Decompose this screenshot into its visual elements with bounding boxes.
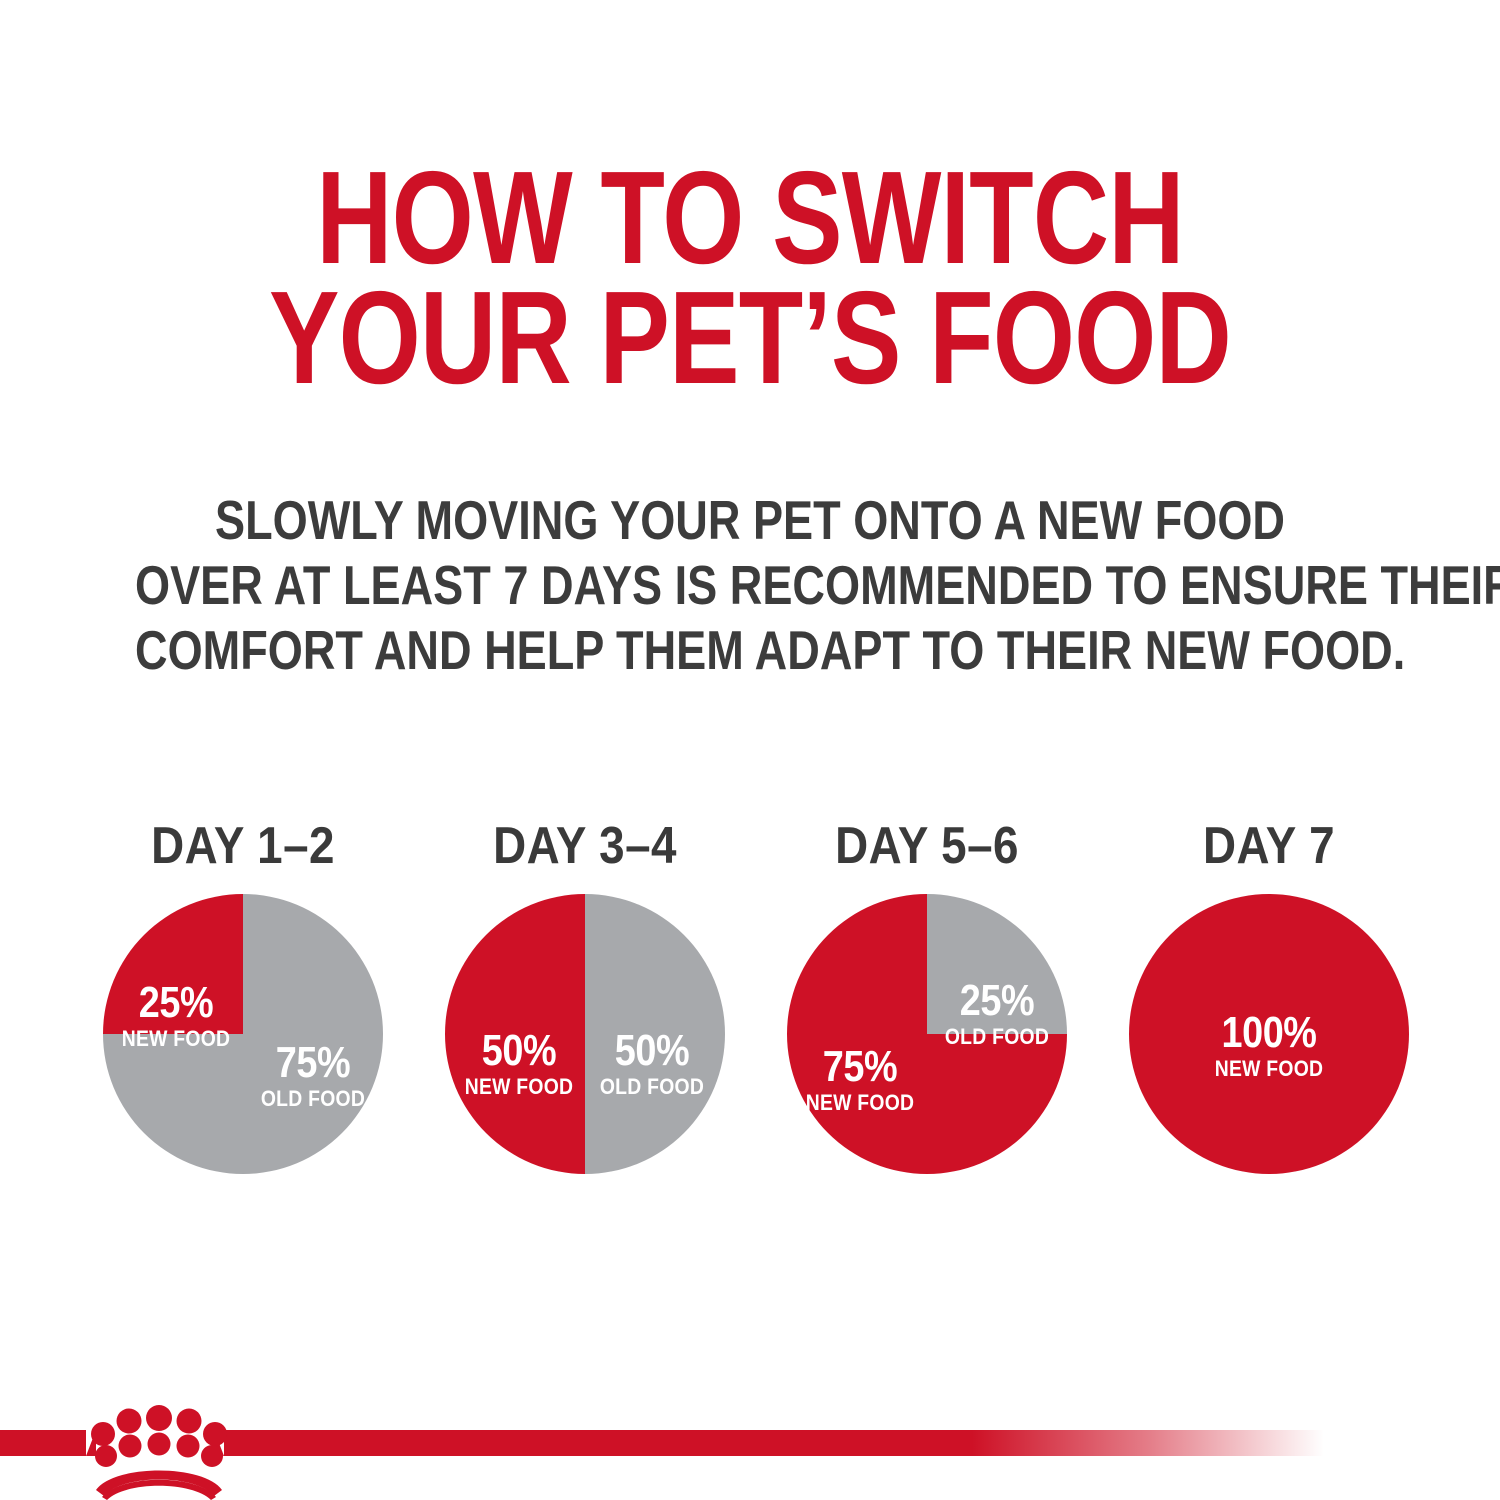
pie-cell-day-7: DAY 7 100% NEW FOOD <box>1098 818 1440 1174</box>
pie-cell-day-3-4: DAY 3–4 50% NEW FOOD 50% OLD FOOD <box>414 818 756 1174</box>
pie-svg-day-1-2 <box>103 894 383 1174</box>
footer-bar-right <box>224 1430 1324 1456</box>
day-label-1: DAY 1–2 <box>93 818 394 876</box>
pie-chart-day-3-4: 50% NEW FOOD 50% OLD FOOD <box>445 894 725 1174</box>
pie-cell-day-1-2: DAY 1–2 25% NEW FOOD 75% OLD FOOD <box>72 818 414 1174</box>
pie-svg-day-3-4 <box>445 894 725 1174</box>
subtitle-line-3: COMFORT AND HELP THEM ADAPT TO THEIR NEW… <box>135 618 1365 683</box>
title-line-2: YOUR PET’S FOOD <box>150 278 1350 398</box>
pie-chart-day-1-2: 25% NEW FOOD 75% OLD FOOD <box>103 894 383 1174</box>
royal-canin-crown-icon <box>84 1404 234 1500</box>
day-label-4: DAY 7 <box>1119 818 1420 876</box>
pie-chart-day-7: 100% NEW FOOD <box>1129 894 1409 1174</box>
pie-cell-day-5-6: DAY 5–6 25% OLD FOOD 75% NEW FOOD <box>756 818 1098 1174</box>
pie-chart-row: DAY 1–2 25% NEW FOOD 75% OLD FOOD <box>0 818 1500 1218</box>
subtitle-line-1: SLOWLY MOVING YOUR PET ONTO A NEW FOOD <box>135 488 1365 553</box>
subtitle: SLOWLY MOVING YOUR PET ONTO A NEW FOOD O… <box>0 488 1500 683</box>
subtitle-line-2: OVER AT LEAST 7 DAYS IS RECOMMENDED TO E… <box>135 553 1365 618</box>
day-label-3: DAY 5–6 <box>777 818 1078 876</box>
footer-bar-left <box>0 1430 86 1456</box>
pie-svg-day-7 <box>1129 894 1409 1174</box>
infographic-page: HOW TO SWITCH YOUR PET’S FOOD SLOWLY MOV… <box>0 0 1500 1500</box>
pie-svg-day-5-6 <box>787 894 1067 1174</box>
day-label-2: DAY 3–4 <box>435 818 736 876</box>
pie-chart-day-5-6: 25% OLD FOOD 75% NEW FOOD <box>787 894 1067 1174</box>
title-line-1: HOW TO SWITCH <box>150 158 1350 278</box>
footer <box>0 1406 1500 1500</box>
page-title: HOW TO SWITCH YOUR PET’S FOOD <box>0 158 1500 398</box>
